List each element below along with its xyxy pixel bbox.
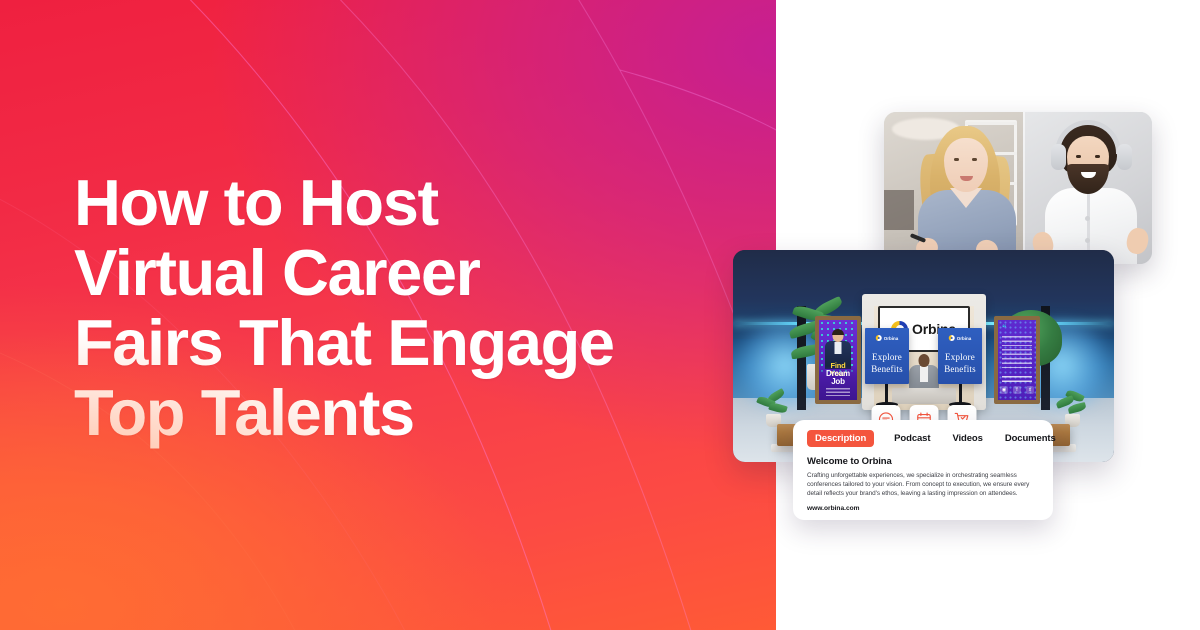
instagram-icon[interactable]: ◉ — [1000, 386, 1008, 394]
tab-videos[interactable]: Videos — [950, 430, 984, 447]
shelf-board — [965, 122, 1017, 125]
description-title: Welcome to Orbina — [807, 456, 1039, 467]
tab-documents[interactable]: Documents — [1003, 430, 1058, 447]
poster-subtext — [826, 388, 850, 396]
banner-explore-benefits-left[interactable]: Orbina Explore Benefits — [865, 328, 909, 384]
banner-explore-benefits-right[interactable]: Orbina Explore Benefits — [938, 328, 982, 384]
headline-line-4: Top Talents — [74, 378, 734, 448]
tab-bar: Description Podcast Videos Documents — [807, 430, 1039, 447]
banner-line-2: Benefits — [938, 364, 982, 374]
poster-canvas: How to Host Virtual Career Fairs That En… — [0, 0, 1200, 630]
banner-line-2: Benefits — [865, 364, 909, 374]
presenter-shirt — [920, 366, 928, 382]
poster-find-your-dream-job[interactable]: Find Your Dream Job — [815, 316, 861, 404]
testimonial-panel[interactable]: “ ◉ f x — [994, 316, 1040, 404]
tile-divider — [1023, 112, 1025, 264]
banner-line-1: Explore — [938, 352, 982, 362]
social-icons: ◉ f x — [998, 386, 1036, 394]
eye — [954, 158, 959, 161]
banner-logo: Orbina — [949, 335, 972, 341]
presenter-avatar — [907, 354, 941, 404]
orbina-logo-icon — [876, 335, 882, 341]
booth-description-card: Description Podcast Videos Documents Wel… — [793, 420, 1053, 520]
banner-brand: Orbina — [957, 336, 972, 341]
banner-stand-pole — [959, 382, 962, 404]
headphone-cup — [1117, 144, 1132, 170]
video-tile-participant-right — [1023, 112, 1152, 264]
facebook-icon[interactable]: f — [1013, 386, 1021, 394]
presenter-head — [918, 354, 929, 367]
eye — [972, 158, 977, 161]
banner-brand: Orbina — [884, 336, 899, 341]
orbina-logo-icon — [949, 335, 955, 341]
banner-stand-pole — [885, 382, 888, 404]
headphone-cup — [1051, 144, 1066, 170]
plant-small — [1056, 392, 1090, 428]
headline-line-3: Fairs That Engage — [74, 308, 734, 378]
banner-logo: Orbina — [876, 335, 899, 341]
quote-mark-icon: “ — [1002, 324, 1007, 332]
video-tile-participant-left — [884, 112, 1023, 264]
description-body: Crafting unforgettable experiences, we s… — [807, 471, 1039, 498]
video-call-panel — [884, 112, 1152, 264]
wall-panel — [884, 190, 914, 230]
tab-description[interactable]: Description — [807, 430, 874, 447]
testimonial-author — [1002, 376, 1032, 383]
description-url[interactable]: www.orbina.com — [807, 505, 1039, 512]
hero-gradient-panel: How to Host Virtual Career Fairs That En… — [0, 0, 776, 630]
twitter-icon[interactable]: x — [1026, 386, 1034, 394]
banner-line-1: Explore — [865, 352, 909, 362]
headline-line-1: How to Host — [74, 168, 734, 238]
tab-podcast[interactable]: Podcast — [892, 430, 932, 447]
testimonial-text — [1002, 336, 1032, 370]
headline-line-2: Virtual Career — [74, 238, 734, 308]
podium — [892, 388, 956, 404]
plant-small — [757, 392, 791, 428]
page-title: How to Host Virtual Career Fairs That En… — [74, 168, 734, 448]
poster-title-line-2: Dream Job — [822, 370, 854, 386]
